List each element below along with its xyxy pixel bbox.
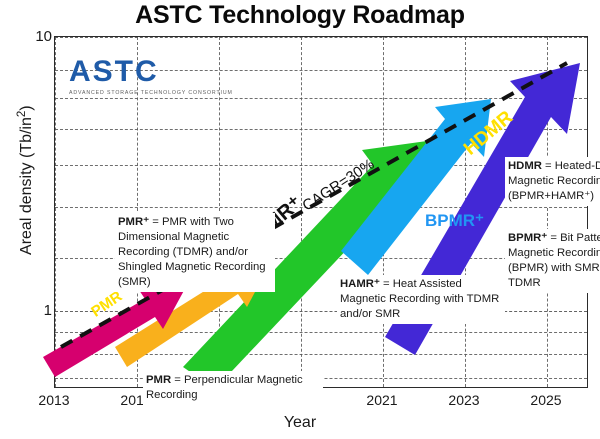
definition-bpmr-plus-term: BPMR⁺	[508, 232, 547, 244]
x-tick-2025: 2025	[522, 392, 570, 408]
definition-bpmr-plus: BPMR⁺ = Bit Patterned Magnetic Recording…	[505, 229, 600, 293]
x-tick-2013: 2013	[30, 392, 78, 408]
y-axis-title: Areal density (Tb/in2)	[16, 70, 36, 290]
y-tick-10: 10	[12, 28, 52, 45]
definition-pmr: PMR = Perpendicular Magnetic Recording	[143, 371, 323, 405]
page-title: ASTC Technology Roadmap	[0, 1, 600, 30]
y-tick-1: 1	[12, 302, 52, 319]
definition-hamr-plus-term: HAMR⁺	[340, 278, 380, 290]
definition-hamr-plus: HAMR⁺ = Heat Assisted Magnetic Recording…	[337, 275, 505, 324]
definition-pmr-plus-term: PMR⁺	[118, 216, 149, 228]
definition-hdmr-term: HDMR	[508, 160, 542, 172]
arrow-label-bpmr-plus: BPMR⁺	[425, 211, 484, 231]
definition-pmr-plus: PMR⁺ = PMR with Two Dimensional Magnetic…	[115, 213, 275, 292]
y-axis-title-main: Areal density (Tb/in	[18, 117, 35, 255]
astc-roadmap-chart: ASTC Technology Roadmap 10 1 Areal densi…	[0, 0, 600, 439]
x-tick-2021: 2021	[358, 392, 406, 408]
x-tick-2023: 2023	[440, 392, 488, 408]
plot-area: ASTC ADVANCED STORAGE TECHNOLOGY CONSORT…	[54, 36, 588, 388]
x-axis-title: Year	[0, 414, 600, 432]
definition-hdmr: HDMR = Heated-Dot Magnetic Recording (BP…	[505, 157, 600, 206]
y-axis-title-close: )	[18, 105, 35, 110]
definition-pmr-term: PMR	[146, 374, 171, 386]
y-axis-title-exponent: 2	[16, 111, 28, 117]
